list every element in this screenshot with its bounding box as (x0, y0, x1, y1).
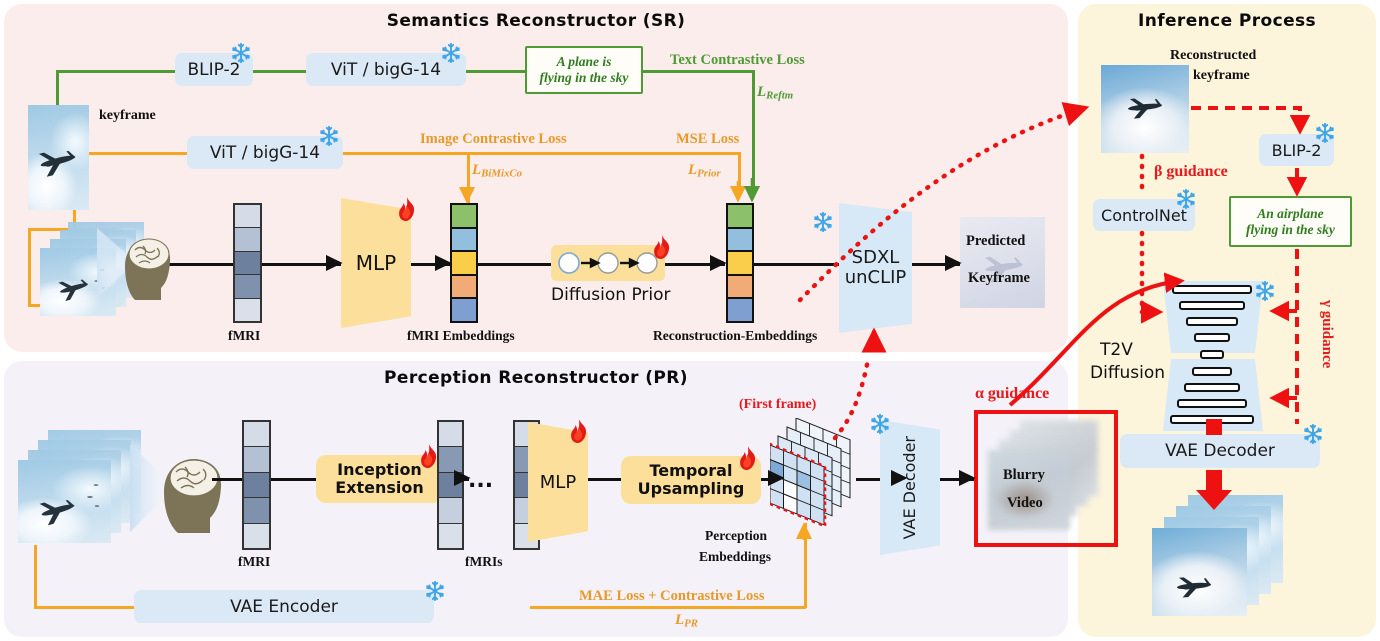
plane-illustration (1101, 65, 1189, 153)
snowflake-icon-vae-encoder (424, 580, 446, 602)
panel-title-inference: Inference Process (1078, 11, 1376, 31)
inception-line1: Inception (337, 460, 422, 479)
inception-line2: Extension (335, 478, 424, 497)
plane-illustration (1152, 528, 1247, 616)
l-reftm-sym: L (757, 84, 766, 100)
l-pr-sub: PR (684, 617, 698, 629)
snowflake-icon-t2v (1254, 280, 1276, 302)
l-pr-sym: L (675, 612, 684, 628)
sdxl-line1: SDXL (852, 247, 900, 268)
line-black-emb-prior (478, 263, 551, 266)
inference-caption-line1: An airplane (1257, 206, 1323, 221)
flame-icon-mlp-pr (568, 418, 590, 444)
line-pr-mlp-temporal (587, 478, 622, 481)
line-green-down-recon (752, 70, 755, 195)
image-contrastive-loss-label: Image Contrastive Loss (420, 131, 567, 148)
brain-head-icon-sr (95, 222, 175, 304)
t2v-diffusion-line1: T2V (1100, 340, 1133, 360)
snowflake-icon-vae-decoder-inference (1302, 423, 1324, 445)
line-pr-vae-blurry (937, 478, 974, 481)
line-green-vit-caption (466, 70, 525, 73)
brain-head-icon-pr (128, 438, 228, 538)
snowflake-icon-controlnet (1175, 188, 1197, 210)
first-frame-label: (First frame) (739, 397, 816, 413)
l-reftm-label: LReftm (757, 84, 793, 101)
plane-illustration (960, 217, 1045, 308)
gamma-guidance-label: γ guidance (1318, 300, 1335, 368)
caption-line1: A plane is (557, 54, 612, 69)
l-reftm-sub: Reftm (766, 89, 793, 101)
vae-decoder-block-inference[interactable]: VAE Decoder (1120, 434, 1320, 468)
reconstructed-keyframe-line1: Reconstructed (1170, 48, 1256, 64)
diffusion-prior-label: Diffusion Prior (551, 285, 671, 305)
l-prior-label: LPrior (688, 162, 721, 179)
caption-box-inference: An airplane flying in the sky (1229, 196, 1352, 247)
t2v-unet-layers (1163, 281, 1263, 431)
reconstructed-video-stack (1152, 495, 1287, 625)
keyframe-label: keyframe (99, 108, 156, 124)
vae-encoder-block[interactable]: VAE Encoder (134, 590, 434, 623)
panel-title-sr: Semantics Reconstructor (SR) (4, 11, 1068, 31)
line-pr-brain-fmri (212, 478, 242, 481)
line-black-mlp-emb (410, 263, 450, 266)
alpha-guidance-label: α guidance (975, 385, 1049, 403)
flame-icon-diffusion-prior (651, 234, 673, 260)
fmri-bar-sr (233, 203, 262, 323)
inference-caption-line2: flying in the sky (1246, 222, 1335, 237)
line-black-fmri-mlp (262, 263, 341, 266)
plane-illustration (28, 105, 89, 210)
text-contrastive-loss-label: Text Contrastive Loss (670, 52, 805, 69)
fmri-label-sr: fMRI (228, 328, 260, 344)
fmris-label: fMRIs (465, 554, 503, 570)
reconstructed-keyframe-image (1101, 65, 1189, 153)
plane-illustration (18, 460, 111, 543)
mse-loss-label: MSE Loss (676, 131, 739, 148)
l-prior-sub: Prior (697, 167, 720, 179)
sdxl-line2: unCLIP (845, 267, 907, 288)
flame-icon-temporal (737, 445, 759, 471)
line-pr-orange-up-loss (804, 523, 807, 608)
vae-decoder-block-pr[interactable]: VAE Decoder (880, 420, 940, 555)
blurry-video-line1: Blurry (1003, 467, 1045, 484)
fmris-ellipsis: ... (468, 468, 493, 493)
flame-icon-mlp-sr (396, 196, 418, 222)
line-black-prior-recon (665, 263, 725, 266)
fmri-bar-pr (242, 420, 271, 550)
line-pr-orange-to-vae (34, 606, 134, 609)
predicted-keyframe-line1: Predicted (966, 233, 1025, 250)
line-black-recon-sdxl (754, 263, 839, 266)
line-pr-orange-down (34, 545, 37, 608)
vae-decoder-label-pr: VAE Decoder (901, 436, 919, 539)
fmri-embeddings-label: fMRI Embeddings (407, 328, 515, 344)
line-green-blip2-vit (253, 70, 306, 73)
fmri-embeddings-column (450, 203, 478, 323)
line-orange-vit-right (343, 152, 739, 155)
snowflake-icon-sdxl (812, 211, 834, 233)
temporal-line1: Temporal (650, 461, 733, 480)
line-green-to-blip2 (56, 70, 175, 73)
blurry-video-line2: Video (1007, 495, 1043, 512)
reconstructed-keyframe-line2: keyframe (1193, 68, 1250, 84)
snowflake-icon-vit-top (440, 42, 462, 64)
line-green-keyframe-up (56, 70, 59, 108)
line-orange-keyframe-vit (88, 152, 187, 155)
snowflake-icon-vit-mid (318, 125, 340, 147)
keyframe-image (28, 105, 89, 210)
panel-title-pr: Perception Reconstructor (PR) (4, 368, 1068, 388)
snowflake-icon-blip2-sr (230, 42, 252, 64)
t2v-diffusion-line2: Diffusion (1090, 363, 1165, 383)
caption-box-sr: A plane is flying in the sky (525, 46, 643, 94)
predicted-keyframe-image (960, 217, 1045, 308)
perception-embeddings-grid (770, 418, 870, 528)
snowflake-icon-vae-decoder-pr (869, 413, 891, 435)
line-orange-down-prior (738, 152, 741, 195)
reconstruction-embeddings-column (726, 203, 754, 323)
l-bimixco-label: LBiMixCo (472, 162, 522, 179)
l-bimixco-sub: BiMixCo (481, 167, 522, 179)
sdxl-unclip-block[interactable]: SDXL unCLIP (839, 203, 912, 333)
snowflake-icon-blip2-inference (1314, 122, 1336, 144)
l-bimixco-sym: L (472, 162, 481, 178)
reconstruction-embeddings-label: Reconstruction-Embeddings (653, 328, 817, 344)
perception-embeddings-label-line2: Embeddings (699, 549, 771, 565)
line-black-sdxl-pred (912, 263, 960, 266)
temporal-line2: Upsampling (638, 479, 745, 498)
line-green-caption-right (643, 70, 754, 73)
l-prior-sym: L (688, 162, 697, 178)
caption-line2: flying in the sky (540, 70, 629, 85)
fmri-label-pr: fMRI (238, 554, 270, 570)
line-pr-fmri-inception (271, 478, 316, 481)
line-pr-orange-vae-right (530, 606, 806, 609)
perception-embeddings-label-line1: Perception (705, 528, 767, 544)
line-orange-stack-left (28, 228, 31, 306)
line-orange-down-bimixco (467, 152, 470, 204)
l-pr-label: LPR (675, 612, 698, 629)
predicted-keyframe-line2: Keyframe (968, 270, 1030, 287)
beta-guidance-label: β guidance (1154, 163, 1228, 181)
diffusion-prior-block[interactable] (551, 245, 665, 281)
mae-loss-label: MAE Loss + Contrastive Loss (579, 588, 765, 605)
fmris-bar-1 (437, 420, 464, 550)
